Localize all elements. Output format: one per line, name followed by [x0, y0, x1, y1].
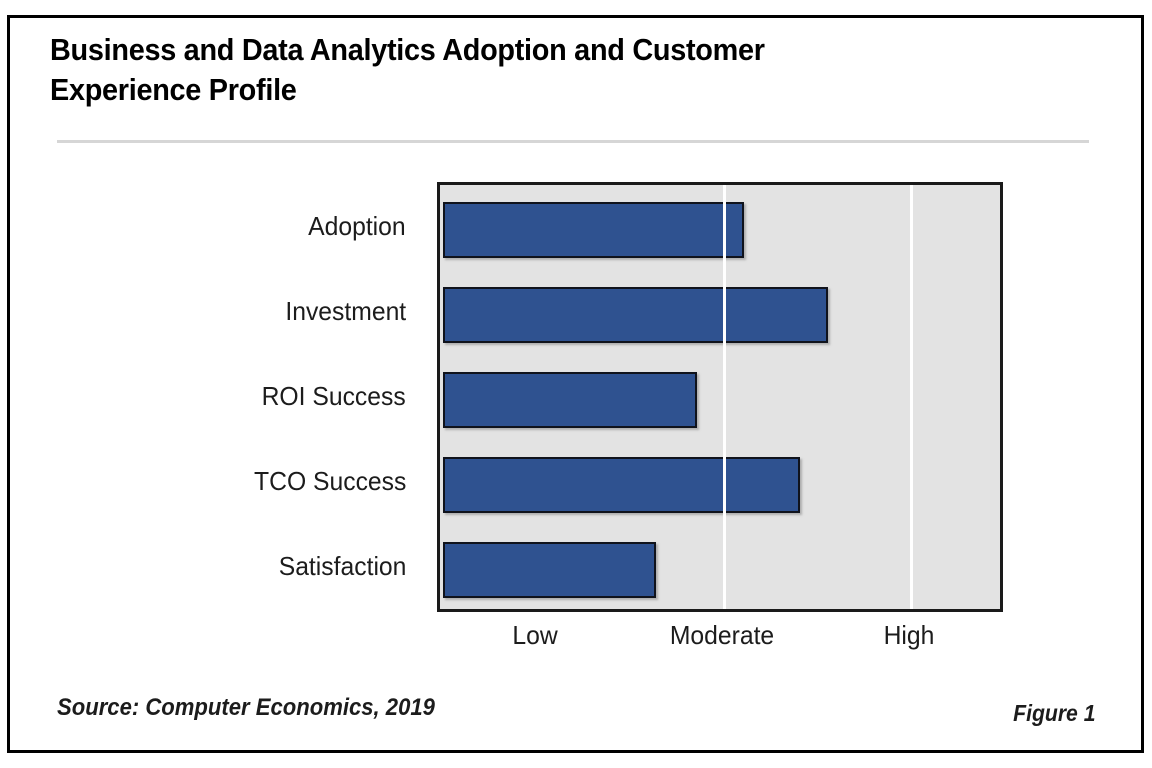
category-axis-labels: AdoptionInvestmentROI SuccessTCO Success… — [150, 182, 422, 612]
value-axis-tick-labels: LowModerateHigh — [437, 620, 1003, 666]
bars-layer — [443, 188, 997, 606]
figure-root: Business and Data Analytics Adoption and… — [0, 0, 1152, 768]
category-label-roi-success: ROI Success — [262, 381, 406, 412]
category-label-tco-success: TCO Success — [254, 466, 406, 497]
title-block: Business and Data Analytics Adoption and… — [50, 30, 1090, 111]
plot-area — [437, 182, 1003, 612]
source-note: Source: Computer Economics, 2019 — [57, 694, 435, 722]
bar-roi-success — [443, 372, 697, 428]
bar-satisfaction — [443, 542, 656, 598]
category-label-adoption: Adoption — [308, 211, 406, 242]
bar-investment — [443, 287, 828, 343]
bar-tco-success — [443, 457, 800, 513]
xtick-label-moderate: Moderate — [670, 620, 774, 651]
xtick-label-high: High — [883, 620, 934, 651]
gridline-moderate — [723, 185, 726, 609]
title-divider — [57, 140, 1089, 143]
bar-adoption — [443, 202, 744, 258]
gridline-high — [910, 185, 913, 609]
xtick-label-low: Low — [513, 620, 558, 651]
chart-plot-region — [437, 182, 1003, 612]
category-label-investment: Investment — [285, 296, 406, 327]
figure-number-label: Figure 1 — [1013, 700, 1095, 727]
category-label-satisfaction: Satisfaction — [278, 551, 406, 582]
page-title: Business and Data Analytics Adoption and… — [50, 30, 1017, 111]
